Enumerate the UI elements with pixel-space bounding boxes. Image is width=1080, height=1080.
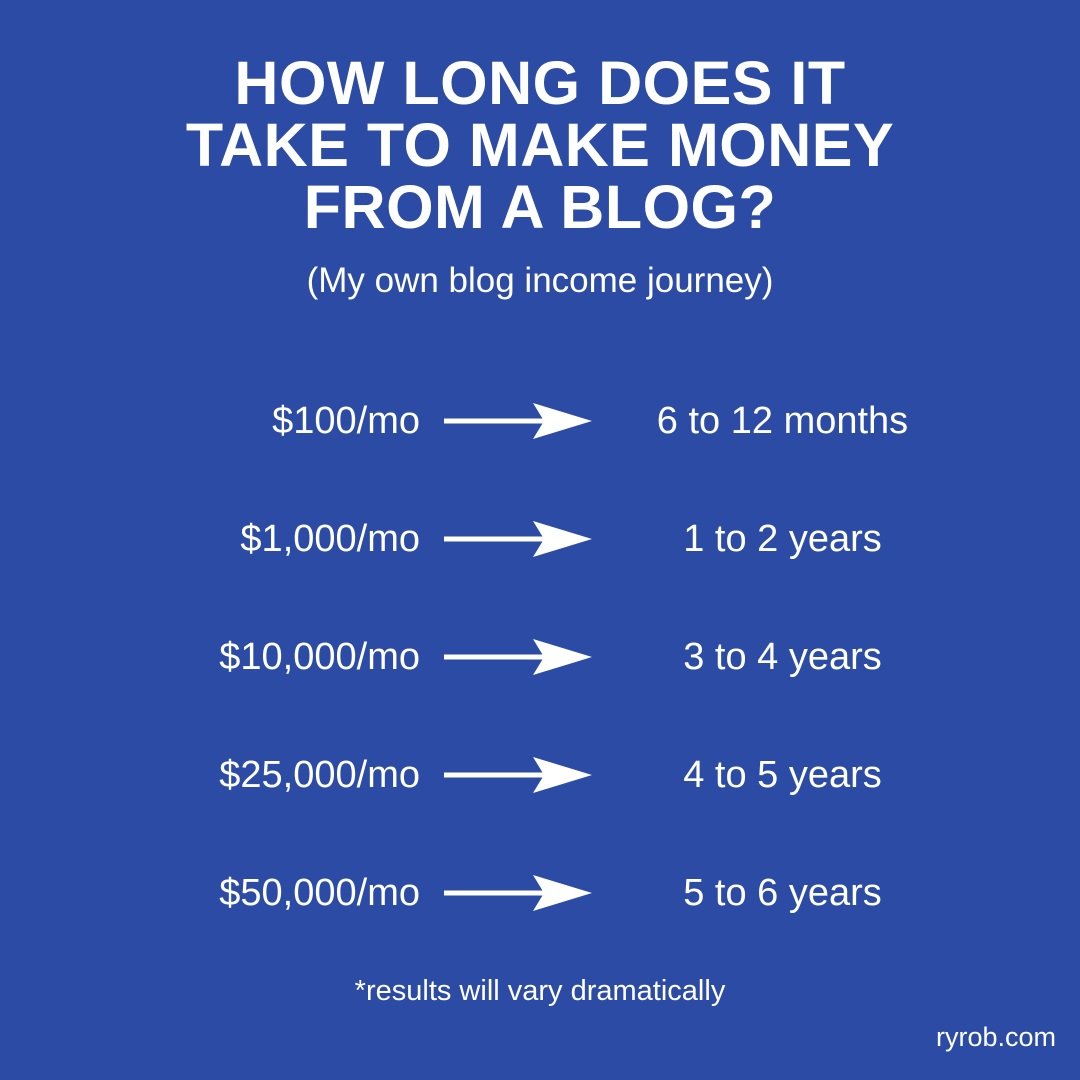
time-to-reach: 4 to 5 years	[610, 753, 955, 797]
income-amount: $10,000/mo	[0, 635, 420, 679]
income-amount: $50,000/mo	[0, 871, 420, 915]
time-to-reach: 5 to 6 years	[610, 871, 955, 915]
page-title-line-1: HOW LONG DOES IT	[0, 52, 1080, 114]
arrow-right-icon	[440, 399, 595, 443]
list-item: $1,000/mo 1 to 2 years	[0, 480, 1080, 598]
arrow-right-icon	[440, 871, 595, 915]
list-item: $10,000/mo 3 to 4 years	[0, 598, 1080, 716]
list-item: $50,000/mo 5 to 6 years	[0, 834, 1080, 952]
page-title-line-3: FROM A BLOG?	[0, 176, 1080, 238]
page-subtitle: (My own blog income journey)	[0, 260, 1080, 302]
income-amount: $1,000/mo	[0, 517, 420, 561]
time-to-reach: 3 to 4 years	[610, 635, 955, 679]
infographic-canvas: HOW LONG DOES IT TAKE TO MAKE MONEY FROM…	[0, 0, 1080, 1080]
arrow-right-icon	[440, 517, 595, 561]
branding-watermark: ryrob.com	[0, 1020, 1080, 1054]
income-amount: $25,000/mo	[0, 753, 420, 797]
arrow-right-icon	[440, 635, 595, 679]
income-amount: $100/mo	[0, 399, 420, 443]
income-milestone-list: $100/mo 6 to 12 months $1,000/mo 1 to 2 …	[0, 362, 1080, 952]
page-title-line-2: TAKE TO MAKE MONEY	[0, 114, 1080, 176]
header: HOW LONG DOES IT TAKE TO MAKE MONEY FROM…	[0, 52, 1080, 302]
list-item: $25,000/mo 4 to 5 years	[0, 716, 1080, 834]
time-to-reach: 6 to 12 months	[610, 399, 955, 443]
time-to-reach: 1 to 2 years	[610, 517, 955, 561]
list-item: $100/mo 6 to 12 months	[0, 362, 1080, 480]
disclaimer-text: *results will vary dramatically	[0, 973, 1080, 1009]
arrow-right-icon	[440, 753, 595, 797]
